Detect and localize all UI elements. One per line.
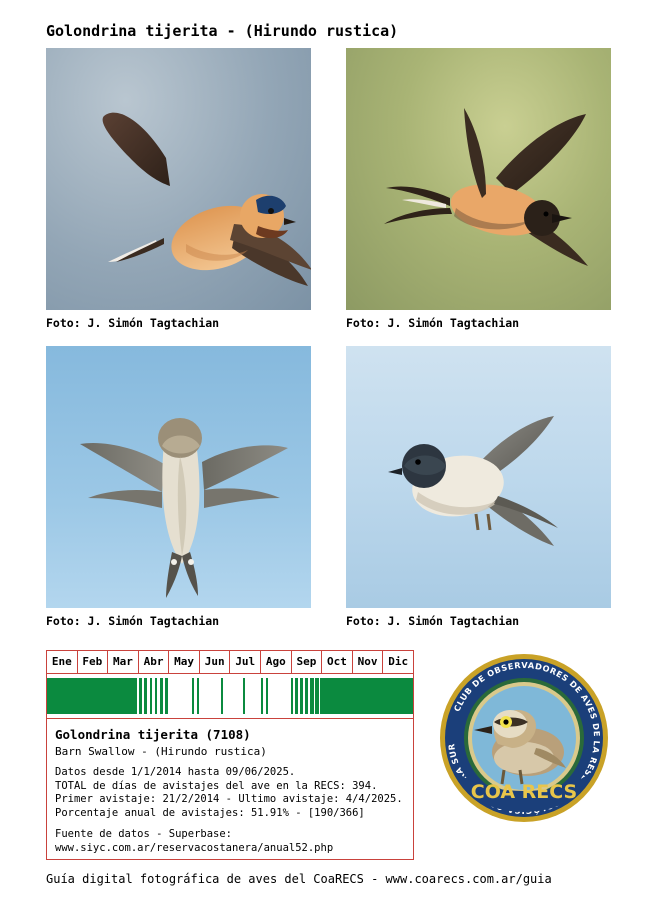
- sighting-tick: [166, 678, 168, 714]
- species-common-name: Golondrina tijerita (7108): [55, 727, 405, 742]
- sighting-tick: [296, 678, 298, 714]
- photo-caption-top-right: Foto: J. Simón Tagtachian: [346, 316, 519, 330]
- barn-swallow-illustration: [46, 346, 311, 608]
- photo-caption-bottom-right: Foto: J. Simón Tagtachian: [346, 614, 519, 628]
- photo-bottom-left: [46, 346, 311, 608]
- species-english-name: Barn Swallow - (Hirundo rustica): [55, 745, 405, 758]
- sighting-tick: [291, 678, 293, 714]
- page-footer: Guía digital fotográfica de aves del Coa…: [46, 872, 552, 886]
- month-label-jun: Jun: [200, 651, 231, 673]
- sighting-tick: [306, 678, 308, 714]
- month-label-may: May: [169, 651, 200, 673]
- sighting-tick: [411, 678, 413, 714]
- guide-page: Golondrina tijerita - (Hirundo rustica): [0, 0, 660, 910]
- page-title: Golondrina tijerita - (Hirundo rustica): [46, 22, 398, 40]
- month-label-abr: Abr: [139, 651, 170, 673]
- sighting-tick: [301, 678, 303, 714]
- sightings-info-panel: Ene Feb Mar Abr May Jun Jul Ago Sep Oct …: [46, 650, 414, 860]
- sighting-tick: [161, 678, 163, 714]
- barn-swallow-illustration: [346, 48, 611, 310]
- stat-annual-percent: Porcentaje anual de avistajes: 51.91% - …: [55, 807, 405, 821]
- photo-bottom-right: [346, 346, 611, 608]
- data-source-url[interactable]: www.siyc.com.ar/reservacostanera/anual52…: [55, 842, 405, 856]
- stat-first-last: Primer avistaje: 21/2/2014 - Ultimo avis…: [55, 793, 405, 807]
- month-label-ago: Ago: [261, 651, 292, 673]
- month-label-sep: Sep: [292, 651, 323, 673]
- month-label-nov: Nov: [353, 651, 384, 673]
- sighting-tick: [150, 678, 152, 714]
- month-header-row: Ene Feb Mar Abr May Jun Jul Ago Sep Oct …: [47, 651, 413, 674]
- barn-swallow-illustration: [46, 48, 311, 310]
- photo-top-right: [346, 48, 611, 310]
- sighting-tick: [261, 678, 263, 714]
- sighting-tick: [140, 678, 142, 714]
- sighting-tick: [221, 678, 223, 714]
- month-label-oct: Oct: [322, 651, 353, 673]
- sighting-tick: [197, 678, 199, 714]
- photo-top-left: [46, 48, 311, 310]
- sighting-tick: [135, 678, 137, 714]
- coarecs-logo: CLUB DE OBSERVADORES DE AVES DE LA RESER…: [438, 652, 610, 824]
- species-info-block: Golondrina tijerita (7108) Barn Swallow …: [47, 719, 413, 859]
- month-label-dic: Dic: [383, 651, 413, 673]
- month-label-ene: Ene: [47, 651, 78, 673]
- sighting-tick: [145, 678, 147, 714]
- month-label-feb: Feb: [78, 651, 109, 673]
- barn-swallow-illustration: [346, 346, 611, 608]
- data-source-label: Fuente de datos - Superbase:: [55, 828, 405, 842]
- photo-caption-top-left: Foto: J. Simón Tagtachian: [46, 316, 219, 330]
- species-statistics: Datos desde 1/1/2014 hasta 09/06/2025. T…: [55, 766, 405, 820]
- stat-date-range: Datos desde 1/1/2014 hasta 09/06/2025.: [55, 766, 405, 780]
- month-label-mar: Mar: [108, 651, 139, 673]
- photo-caption-bottom-left: Foto: J. Simón Tagtachian: [46, 614, 219, 628]
- sighting-tick: [155, 678, 157, 714]
- sighting-tick: [243, 678, 245, 714]
- sighting-tick: [192, 678, 194, 714]
- coarecs-logo-graphic: CLUB DE OBSERVADORES DE AVES DE LA RESER…: [438, 652, 610, 824]
- month-label-jul: Jul: [230, 651, 261, 673]
- sighting-tick: [317, 678, 319, 714]
- data-source-block: Fuente de datos - Superbase: www.siyc.co…: [55, 828, 405, 855]
- stat-total-days: TOTAL de días de avistajes del ave en la…: [55, 780, 405, 794]
- annual-sightings-barstrip: [47, 674, 413, 719]
- sighting-tick: [312, 678, 314, 714]
- sighting-tick: [266, 678, 268, 714]
- logo-brand-text: COA RECS: [471, 781, 578, 803]
